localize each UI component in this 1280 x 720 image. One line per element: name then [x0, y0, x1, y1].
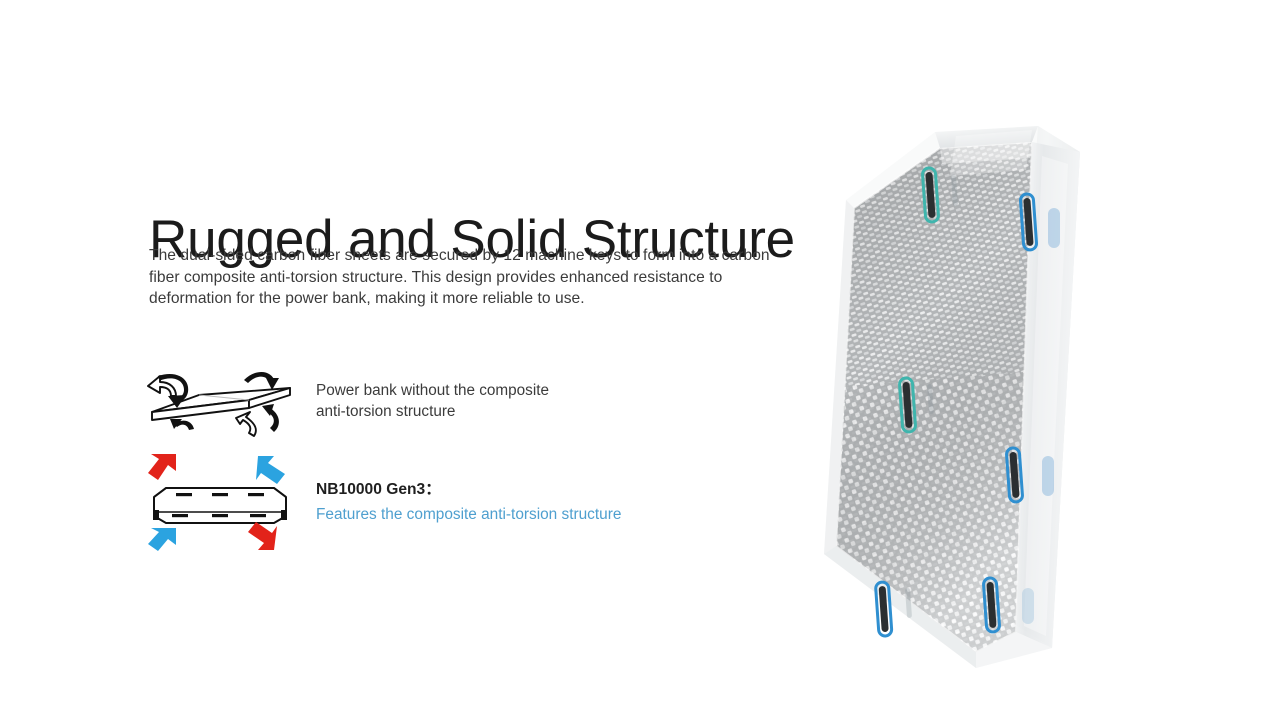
rotation-arrow-outline-right	[236, 412, 256, 436]
product-render	[780, 96, 1220, 676]
body-line-2: fiber composite anti-torsion structure. …	[149, 267, 849, 289]
body-paragraph: The dual-sided carbon fiber sheets are s…	[149, 245, 849, 310]
rotation-arrow-upper-right	[244, 372, 279, 390]
specular-highlight	[950, 130, 1032, 176]
product-name-label: NB10000 Gen3：	[316, 477, 621, 502]
arrow-red-bottom-right	[248, 522, 277, 550]
arrow-blue-bottom-left	[148, 528, 176, 551]
twisted-power-bank-diagram	[146, 362, 298, 440]
arrow-blue-top-right	[256, 456, 285, 484]
caption-without-line-1: Power bank without the composite	[316, 380, 549, 401]
rotation-arrow-lower-left	[170, 419, 194, 430]
page-root: Rugged and Solid Structure The dual-side…	[0, 0, 1280, 720]
caption-with-subtitle: Features the composite anti-torsion stru…	[316, 502, 621, 527]
comparison-row-without: Power bank without the composite anti-to…	[146, 362, 549, 440]
caption-with: NB10000 Gen3： Features the composite ant…	[316, 477, 621, 527]
device-slab	[153, 488, 287, 523]
body-line-3: deformation for the power bank, making i…	[149, 288, 849, 310]
caption-without-line-2: anti-torsion structure	[316, 401, 549, 422]
comparison-row-with: NB10000 Gen3： Features the composite ant…	[146, 452, 621, 552]
rigid-power-bank-diagram	[146, 452, 298, 552]
caption-without: Power bank without the composite anti-to…	[316, 380, 549, 422]
body-line-1: The dual-sided carbon fiber sheets are s…	[149, 245, 849, 267]
arrow-red-top-left	[148, 454, 176, 480]
rotation-arrow-lower-right	[262, 404, 279, 432]
